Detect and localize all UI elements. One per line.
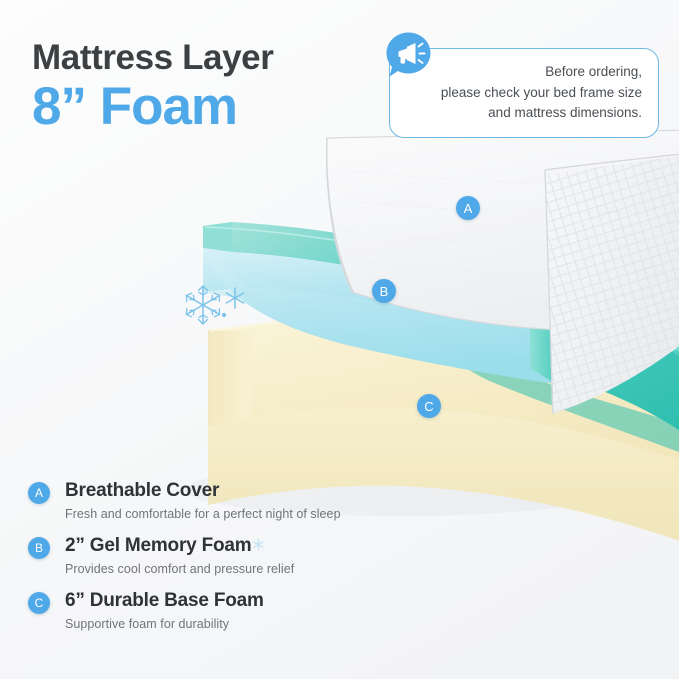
legend-list: A Breathable Cover Fresh and comfortable… (28, 480, 458, 632)
legend-title-b: 2” Gel Memory Foam (65, 535, 458, 557)
legend-item-a: A Breathable Cover Fresh and comfortable… (28, 480, 458, 522)
legend-item-b: B 2” Gel Memory Foam Provides cool comfo… (28, 535, 458, 577)
illustration-stage: Mattress Layer 8” Foam Before ordering, … (0, 0, 679, 679)
megaphone-icon (385, 31, 432, 78)
legend-marker-a[interactable]: A (28, 482, 50, 504)
marker-a[interactable]: A (456, 196, 480, 220)
legend-item-c: C 6” Durable Base Foam Supportive foam f… (28, 590, 458, 632)
legend-marker-c[interactable]: C (28, 592, 50, 614)
legend-title-text-c: 6” Durable Base Foam (65, 590, 264, 612)
page-subtitle: 8” Foam (32, 79, 412, 135)
legend-marker-b[interactable]: B (28, 537, 50, 559)
legend-title-text-a: Breathable Cover (65, 480, 219, 502)
marker-c[interactable]: C (417, 394, 441, 418)
marker-b[interactable]: B (372, 279, 396, 303)
legend-title-a: Breathable Cover (65, 480, 458, 502)
layer-b-gel-foam (203, 222, 679, 452)
page-title: Mattress Layer (32, 40, 412, 77)
legend-desc-a: Fresh and comfortable for a perfect nigh… (65, 506, 458, 522)
legend-desc-b: Provides cool comfort and pressure relie… (65, 561, 458, 577)
notice-text: Before ordering, please check your bed f… (406, 62, 642, 124)
legend-title-text-b: 2” Gel Memory Foam (65, 535, 251, 557)
snowflake-icon (252, 538, 265, 551)
headline-block: Mattress Layer 8” Foam (32, 40, 412, 134)
legend-desc-c: Supportive foam for durability (65, 616, 458, 632)
snowflake-icon (180, 275, 252, 335)
legend-title-c: 6” Durable Base Foam (65, 590, 458, 612)
